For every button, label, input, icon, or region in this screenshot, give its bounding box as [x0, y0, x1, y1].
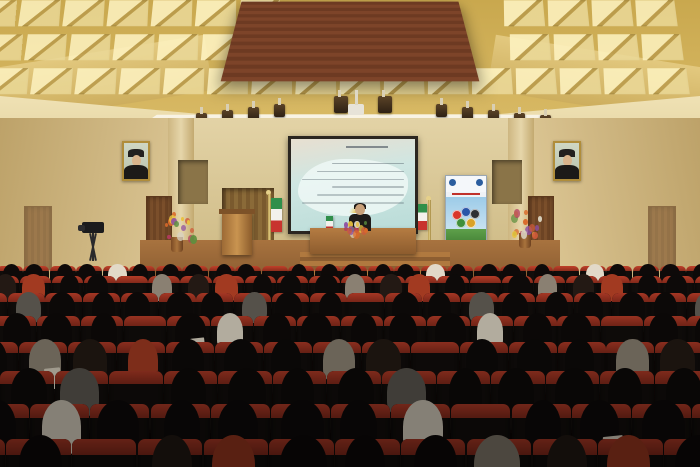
ceiling-coffer — [68, 34, 110, 60]
flower-petal — [187, 220, 191, 225]
flower-petal — [512, 231, 517, 238]
ceiling — [0, 0, 700, 120]
stage-spotlight-icon — [436, 104, 447, 117]
flower-petal — [347, 228, 352, 234]
flower-petal — [529, 224, 535, 232]
ceiling-coffer — [151, 0, 193, 26]
camera-lens-icon — [78, 225, 85, 231]
ceiling-coffer — [24, 34, 67, 60]
flag-iran-left — [271, 198, 282, 232]
seat-headrest — [109, 371, 163, 384]
seat-headrest — [451, 404, 510, 418]
flower-petal — [353, 230, 360, 239]
ceiling-coffer — [163, 68, 205, 94]
seat-headrest — [347, 293, 384, 302]
ceiling-coffer — [510, 34, 551, 60]
photograph-root: www.guilan.ac.ir / ۲۴ شهریور ۱۳۸۹ دوازده… — [0, 0, 700, 467]
seat-headrest — [553, 266, 579, 272]
projector-icon — [348, 104, 364, 115]
seat-headrest — [470, 276, 502, 283]
flower-petal — [177, 232, 183, 240]
ceiling-coffer — [635, 0, 678, 26]
audience-area — [0, 248, 700, 467]
ceiling-coffer — [62, 0, 105, 26]
flag-iran-right — [418, 204, 427, 230]
auditorium-seat[interactable] — [0, 439, 5, 467]
seat-headrest — [692, 404, 700, 418]
ceiling-coffer — [112, 34, 154, 60]
seat-headrest — [601, 316, 644, 326]
ceiling-coffer — [641, 34, 684, 60]
ceiling-coffer — [0, 34, 23, 60]
ceiling-coffer — [597, 34, 639, 60]
banner-header — [446, 176, 486, 192]
ceiling-coffer — [18, 0, 61, 26]
flower-petal — [364, 228, 368, 234]
auditorium-seat[interactable] — [72, 439, 137, 467]
ceiling-coffer — [30, 68, 73, 94]
flower-petal — [514, 209, 520, 217]
ceiling-coffer — [591, 0, 633, 26]
seat-headrest — [124, 316, 167, 326]
ceiling-coffer — [157, 34, 199, 60]
wall-recess-right — [492, 160, 522, 204]
calligraphy-line — [302, 179, 404, 181]
flowers-table — [338, 220, 368, 238]
portrait-robe-icon — [555, 165, 579, 179]
banner-logo-left-icon — [449, 179, 456, 186]
flower-petal — [165, 223, 168, 227]
ceiling-coffer — [106, 0, 148, 26]
wall-recess-left — [178, 160, 208, 204]
calligraphy-line — [332, 186, 404, 188]
stage-spotlight-icon — [274, 104, 285, 117]
ceiling-coffer — [560, 68, 602, 94]
portrait-khomeini — [122, 141, 150, 181]
seat-headrest — [116, 276, 148, 283]
ceiling-coffer — [195, 0, 236, 26]
flower-petal — [181, 225, 186, 232]
banner-title-text — [452, 193, 480, 195]
banner-atom-icon — [456, 218, 466, 228]
ceiling-coffer — [516, 68, 557, 94]
ceiling-coffer — [504, 0, 545, 26]
ceiling-coffer — [647, 68, 690, 94]
portrait-leader — [553, 141, 581, 181]
speaker-head — [355, 204, 365, 215]
flower-petal — [532, 232, 538, 240]
flower-petal — [364, 221, 367, 226]
stage-spotlight-icon — [334, 96, 348, 113]
flower-petal — [174, 221, 179, 227]
banner-atom-icon — [466, 218, 476, 228]
ceiling-coffer — [554, 34, 596, 60]
flower-petal — [181, 217, 184, 221]
flower-petal — [523, 219, 528, 226]
flower-petal — [190, 235, 197, 244]
stage-spotlight-icon — [378, 96, 392, 113]
calligraphy-line — [317, 194, 404, 196]
seat-headrest — [72, 439, 137, 455]
flower-petal — [190, 228, 194, 234]
flower-petal — [538, 216, 543, 222]
ceiling-coffer — [548, 0, 590, 26]
ceiling-coffer — [118, 68, 160, 94]
ceiling-wood-panel — [221, 2, 480, 82]
flowers-left — [160, 212, 194, 252]
portrait-robe-icon — [124, 165, 148, 179]
ceiling-coffer — [603, 68, 645, 94]
flower-petal — [535, 225, 540, 231]
slide-header-line — [346, 146, 388, 148]
seat-headrest — [411, 342, 459, 353]
flower-petal — [167, 235, 170, 239]
seat-headrest — [262, 266, 288, 272]
ceiling-coffer — [74, 68, 116, 94]
flowers-right — [508, 208, 542, 248]
flower-petal — [524, 210, 528, 215]
ceiling-coffer — [0, 0, 17, 26]
ceiling-coffer — [0, 68, 29, 94]
calligraphy-line — [317, 171, 404, 173]
camera-body — [82, 222, 104, 233]
banner-logo-right-icon — [476, 179, 483, 186]
